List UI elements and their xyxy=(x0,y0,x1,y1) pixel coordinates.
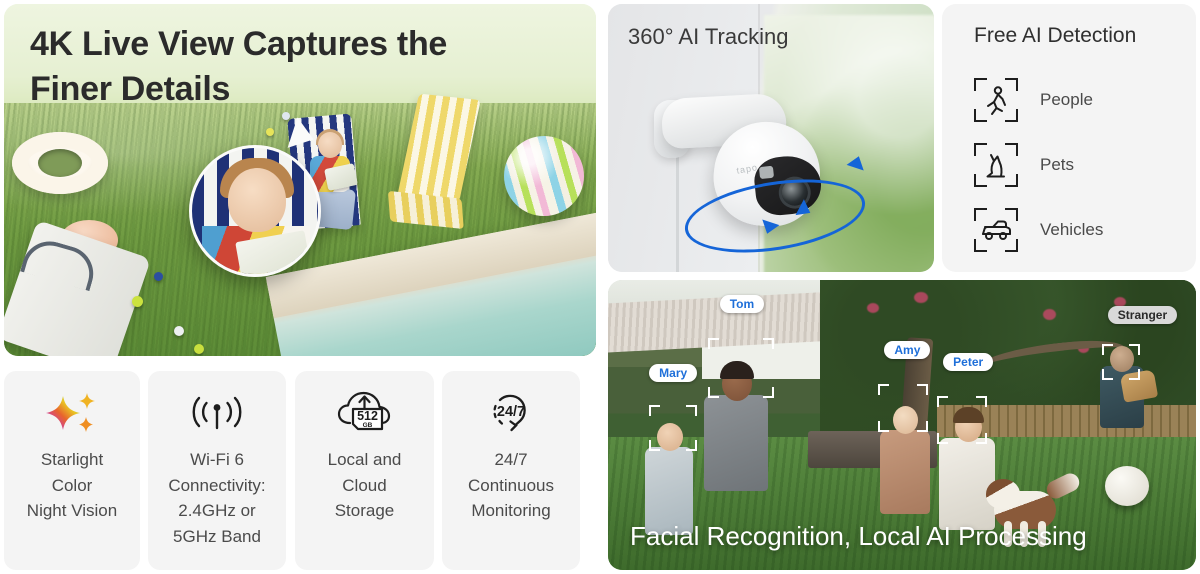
name-tag-amy[interactable]: Amy xyxy=(884,341,930,359)
svg-text:512: 512 xyxy=(357,409,378,423)
feature-card-starlight[interactable]: Starlight Color Night Vision xyxy=(4,371,140,570)
free-ai-detection-panel: Free AI Detection People xyxy=(942,4,1196,272)
lawn-ball xyxy=(174,326,184,336)
name-tag-peter[interactable]: Peter xyxy=(943,353,993,371)
ai-detection-label: People xyxy=(1040,90,1093,110)
hero-4k-live-view-panel: 4K Live View Captures the Finer Details xyxy=(4,4,596,356)
lawn-ball xyxy=(194,344,204,354)
feature-card-247[interactable]: 24/7 24/7 Continuous Monitoring xyxy=(442,371,580,570)
pool-float-ring xyxy=(12,132,108,194)
feature-card-storage[interactable]: 512 GB Local and Cloud Storage xyxy=(295,371,434,570)
name-tag-tom[interactable]: Tom xyxy=(720,295,764,313)
open-book xyxy=(324,163,358,191)
lawn-ball xyxy=(132,296,143,307)
face-frame-peter xyxy=(937,396,987,444)
zoom-detail-circle xyxy=(189,145,321,277)
walking-person-icon xyxy=(974,78,1018,122)
dog-head xyxy=(986,479,1020,509)
beach-ball xyxy=(504,136,584,216)
tom-torso xyxy=(704,395,768,491)
facial-caption: Facial Recognition, Local AI Processing xyxy=(630,521,1087,552)
svg-text:24/7: 24/7 xyxy=(497,404,525,420)
ai-detection-item-people: People xyxy=(974,78,1093,122)
camera-cable xyxy=(676,154,679,272)
ai-detection-title: Free AI Detection xyxy=(974,24,1136,48)
car-icon xyxy=(974,208,1018,252)
feature-card-text: Local and Cloud Storage xyxy=(303,447,426,524)
wifi-signal-icon xyxy=(148,387,286,441)
feature-card-text: 24/7 Continuous Monitoring xyxy=(450,447,572,524)
face-frame-mary xyxy=(649,405,697,451)
lawn-ball xyxy=(266,128,274,136)
face-frame-tom xyxy=(708,338,774,398)
girl-head xyxy=(318,132,342,158)
360-ai-tracking-panel: tapo 360° AI Tracking xyxy=(608,4,934,272)
feature-card-text: Starlight Color Night Vision xyxy=(12,447,132,524)
blossom xyxy=(914,292,928,303)
face-frame-amy xyxy=(878,384,928,432)
lawn-ball xyxy=(282,112,290,120)
name-tag-stranger[interactable]: Stranger xyxy=(1108,306,1177,324)
dog-icon xyxy=(974,143,1018,187)
tracking-title: 360° AI Tracking xyxy=(628,24,788,50)
zoom-girl-face xyxy=(228,168,286,232)
lawn-ball xyxy=(154,272,163,281)
ai-detection-item-pets: Pets xyxy=(974,143,1074,187)
starlight-star-icon xyxy=(4,387,140,441)
ir-led-icon xyxy=(759,166,774,179)
ai-detection-label: Pets xyxy=(1040,155,1074,175)
feature-card-wifi6[interactable]: Wi-Fi 6 Connectivity: 2.4GHz or 5GHz Ban… xyxy=(148,371,286,570)
feature-card-text: Wi-Fi 6 Connectivity: 2.4GHz or 5GHz Ban… xyxy=(156,447,278,549)
247-loop-icon: 24/7 xyxy=(442,387,580,441)
cloud-sdcard-icon: 512 GB xyxy=(295,387,434,441)
facial-recognition-panel: Tom Mary Amy Peter Stranger Facial Recog… xyxy=(608,280,1196,570)
blossom xyxy=(867,303,879,313)
white-ball xyxy=(1105,466,1149,506)
hero-title: 4K Live View Captures the Finer Details xyxy=(30,22,530,112)
name-tag-mary[interactable]: Mary xyxy=(649,364,697,382)
ai-detection-item-vehicles: Vehicles xyxy=(974,208,1103,252)
amy-top xyxy=(880,430,930,514)
ai-detection-label: Vehicles xyxy=(1040,220,1103,240)
product-feature-collage: 4K Live View Captures the Finer Details … xyxy=(0,0,1200,574)
face-frame-stranger xyxy=(1102,344,1140,380)
svg-text:GB: GB xyxy=(362,422,372,429)
